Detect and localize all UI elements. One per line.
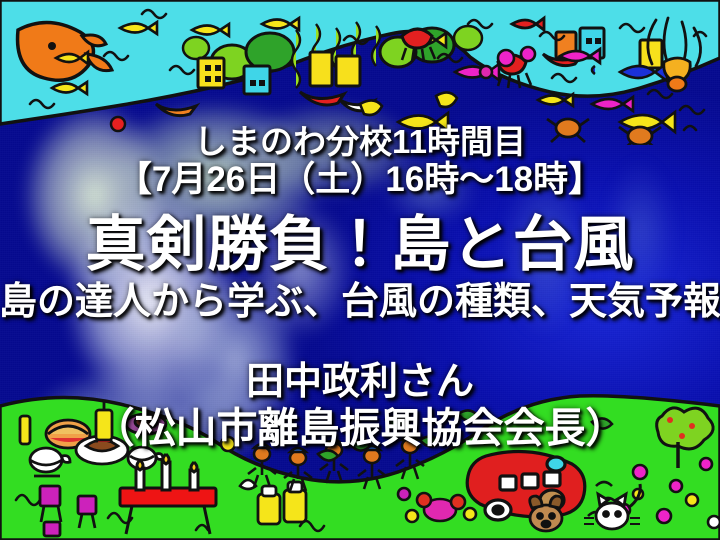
doodle-bee: [221, 437, 235, 451]
doodle-red-bus: [467, 452, 585, 521]
doodle-red-dot: [111, 117, 125, 131]
land-doodle-band: [0, 390, 720, 540]
sea-doodle-band: [0, 0, 720, 145]
doodle-shrimp: [360, 92, 457, 115]
slide-canvas: しまのわ分校11時間目 【7月26日（土）16時〜18時】 真剣勝負！島と台風 …: [0, 0, 720, 540]
